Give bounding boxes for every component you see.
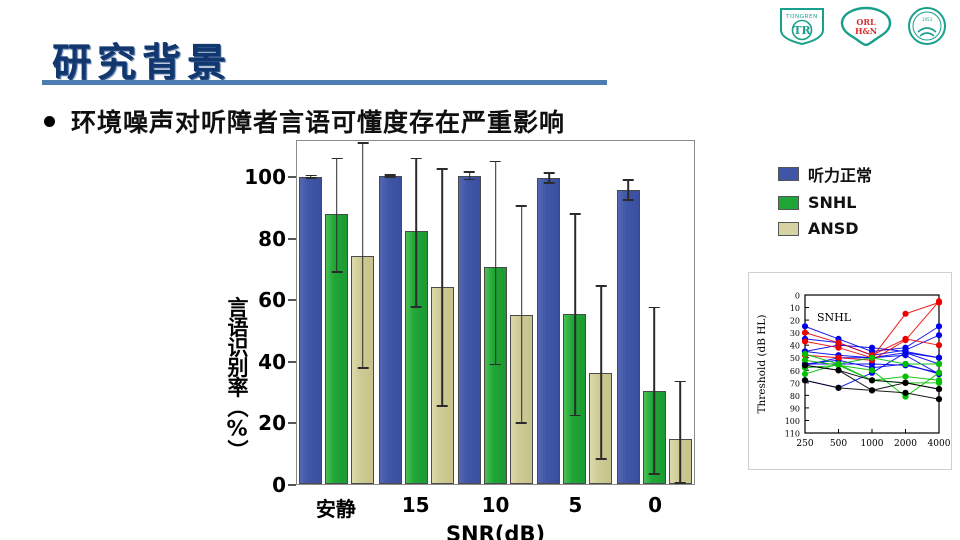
x-tick-label: 15 [376,485,456,519]
audiogram-point [902,361,908,367]
audiogram-point [902,350,908,356]
tongren-logo: TONGREN TR [778,6,826,46]
y-tick-label: 40 [258,350,286,374]
bar-slot[interactable] [431,141,454,484]
audiogram-point [802,338,808,344]
bar-slot[interactable] [351,141,374,484]
audiogram-point [936,380,942,386]
bar-slot[interactable] [405,141,428,484]
y-tick-mark [288,176,296,178]
y-tick-label: 80 [258,227,286,251]
error-bar [680,381,682,484]
bar-slot[interactable] [669,141,692,484]
chart-x-axis-label: SNR(dB) [296,522,695,540]
audiogram-y-tick-label: 110 [785,430,800,439]
bar-group [535,141,614,484]
bar-group [297,141,376,484]
audiogram-point [802,362,808,368]
y-tick-label: 20 [258,411,286,435]
error-bar [362,142,364,368]
speech-recognition-bar-chart: 言语识别率（%） 020406080100 安静151050 SNR(dB) [204,140,749,540]
audiogram-y-tick-label: 50 [790,354,800,363]
bar-slot[interactable] [563,141,586,484]
y-tick-label: 0 [272,473,286,497]
audiogram-y-tick-label: 70 [790,379,800,388]
error-bar [415,158,417,308]
bullet-item: 环境噪声对听障者言语可懂度存在严重影响 [44,103,565,139]
audiogram-group-label: SNHL [817,311,852,324]
y-tick-mark [288,238,296,240]
bar-slot[interactable] [299,141,322,484]
legend-swatch [778,167,799,181]
audiogram-point [869,367,875,373]
audiogram-y-tick-label: 20 [790,317,800,326]
error-bar [469,171,471,180]
x-tick-label: 10 [456,485,536,519]
bar-slot[interactable] [325,141,348,484]
bar-slot[interactable] [510,141,533,484]
audiogram-point [936,370,942,376]
bar-slot[interactable] [458,141,481,484]
svg-text:H&N: H&N [855,26,877,36]
chart-y-axis-label: 言语识别率（%） [204,297,252,460]
bar-听力正常[interactable] [299,177,322,484]
bar-slot[interactable] [379,141,402,484]
bar-听力正常[interactable] [458,176,481,484]
audiogram-svg: 0102030405060708090100110250500100020004… [749,273,953,471]
legend-item-听力正常[interactable]: 听力正常 [778,162,872,186]
legend-swatch [778,196,799,210]
error-bar [495,161,497,366]
error-bar [654,307,656,475]
y-tick-mark [288,484,296,486]
audiogram-y-tick-label: 80 [790,392,800,401]
audiogram-point [802,371,808,377]
audiogram-y-tick-label: 100 [785,417,800,426]
logo-strip: TONGREN TR ORL H&N 1953 [778,6,948,46]
audiogram-point [902,390,908,396]
audiogram-point [936,396,942,402]
y-tick-mark [288,422,296,424]
audiogram-point [869,355,875,361]
legend-item-SNHL[interactable]: SNHL [778,193,872,212]
title-underline [42,80,607,85]
error-bar [600,285,602,460]
chart-y-tick-labels: 020406080100 [250,140,296,485]
error-bar [389,174,391,177]
audiogram-x-tick-label: 4000 [928,439,951,449]
x-tick-label: 安静 [296,485,376,519]
bar-听力正常[interactable] [537,178,560,484]
audiogram-point [936,298,942,304]
error-bar [336,158,338,274]
legend-label: SNHL [808,193,857,212]
audiogram-point [936,355,942,361]
bar-slot[interactable] [643,141,666,484]
audiogram-y-tick-label: 30 [790,329,800,338]
audiogram-point [802,351,808,357]
bar-slot[interactable] [589,141,612,484]
error-bar [574,213,576,416]
audiogram-point [802,323,808,329]
bullet-dot-icon [44,116,55,127]
audiogram-y-tick-label: 0 [795,292,800,301]
error-bar [521,205,523,424]
audiogram-point [936,332,942,338]
audiogram-point [902,311,908,317]
y-tick-mark [288,361,296,363]
audiogram-point [902,337,908,343]
audiogram-y-axis-label: Threshold (dB HL) [756,315,768,414]
audiogram-point [936,386,942,392]
svg-text:TONGREN: TONGREN [785,14,818,20]
chart-x-tick-labels: 安静151050 [296,485,695,519]
legend-swatch [778,222,799,236]
audiogram-x-tick-label: 1000 [861,439,884,449]
error-bar [628,179,630,201]
audiogram-y-tick-label: 40 [790,342,800,351]
x-tick-label: 0 [615,485,695,519]
audiogram-point [869,345,875,351]
chart-legend: 听力正常SNHLANSD [778,162,872,245]
bar-听力正常[interactable] [617,190,640,484]
bar-group [376,141,455,484]
anniversary-logo: 1953 [906,6,948,46]
audiogram-x-tick-label: 500 [830,439,847,449]
orl-hn-logo: ORL H&N [840,6,892,46]
bar-slot[interactable] [484,141,507,484]
audiogram-y-tick-label: 90 [790,404,800,413]
audiogram-point [869,377,875,383]
audiogram-x-tick-label: 2000 [894,439,917,449]
error-bar [441,168,443,407]
bar-slot[interactable] [537,141,560,484]
legend-item-ANSD[interactable]: ANSD [778,219,872,238]
audiogram-point [902,380,908,386]
svg-text:TR: TR [793,24,811,37]
audiogram-point [835,355,841,361]
bullet-text: 环境噪声对听障者言语可懂度存在严重影响 [71,103,565,139]
svg-text:1953: 1953 [922,17,933,22]
audiogram-point [835,385,841,391]
audiogram-point [802,377,808,383]
audiogram-point [802,330,808,336]
audiogram-y-tick-label: 60 [790,367,800,376]
audiogram-point [869,387,875,393]
audiogram-point [936,323,942,329]
y-tick-label: 60 [258,288,286,312]
bar-group [615,141,694,484]
y-tick-mark [288,299,296,301]
error-bar [548,172,550,184]
legend-label: ANSD [808,219,859,238]
bar-听力正常[interactable] [379,176,402,484]
audiogram-x-tick-label: 250 [796,439,813,449]
chart-plot-outer: 020406080100 安静151050 SNR(dB) [250,140,695,485]
bar-slot[interactable] [617,141,640,484]
chart-bars-layer [297,141,694,484]
audiogram-point [835,367,841,373]
audiogram-point [936,342,942,348]
error-bar [310,175,312,179]
audiogram-point [936,361,942,367]
slide-root: TONGREN TR ORL H&N 1953 研究背景 环境噪声对听 [0,0,960,540]
audiogram-point [835,345,841,351]
x-tick-label: 5 [535,485,615,519]
snhl-audiogram-inset: 0102030405060708090100110250500100020004… [748,272,952,470]
chart-plot-area [296,140,695,485]
audiogram-y-tick-label: 10 [790,304,800,313]
bar-group [456,141,535,484]
legend-label: 听力正常 [808,162,872,186]
y-tick-label: 100 [244,165,286,189]
audiogram-point [902,373,908,379]
